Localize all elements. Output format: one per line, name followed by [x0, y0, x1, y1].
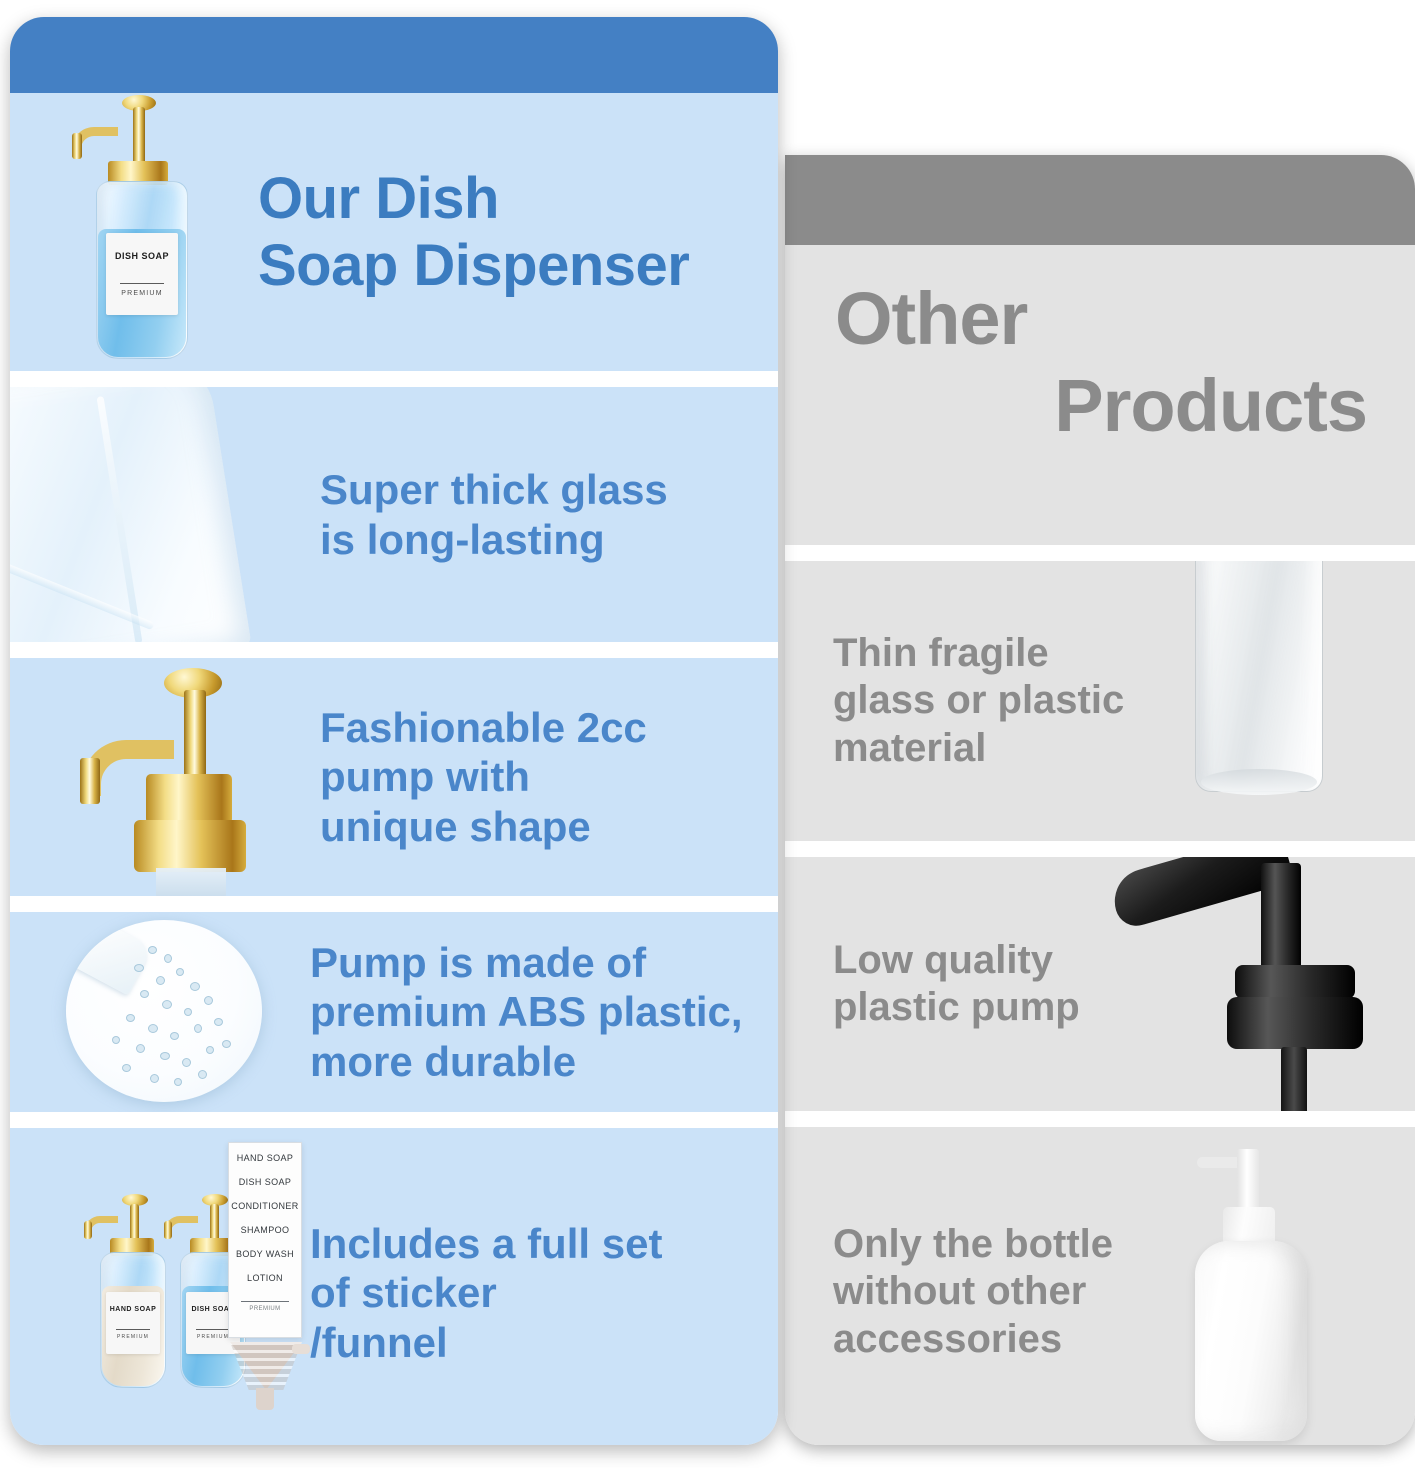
- row-gap: [785, 1111, 1415, 1127]
- row-gap: [10, 896, 778, 912]
- drawback-text-bottle-only: Only the bottle without other accessorie…: [785, 1221, 1150, 1363]
- our-product-title: Our Dish Soap Dispenser: [10, 165, 689, 300]
- feature-line2: pump with: [320, 752, 647, 801]
- feature-line1: Includes a full set: [310, 1219, 662, 1268]
- feature-line3: more durable: [310, 1037, 743, 1086]
- drawback-line2: plastic pump: [833, 984, 1150, 1031]
- drawback-line3: accessories: [833, 1316, 1150, 1363]
- feature-text-thick-glass: Super thick glass is long-lasting: [10, 465, 668, 563]
- row-gap: [785, 841, 1415, 857]
- drawback-line1: Thin fragile: [833, 630, 1150, 677]
- feature-line2: of sticker: [310, 1268, 662, 1317]
- other-products-title-line2: Products: [827, 362, 1367, 449]
- feature-row-abs-plastic: Pump is made of premium ABS plastic, mor…: [10, 912, 778, 1112]
- row-gap: [785, 545, 1415, 561]
- other-products-title-line1: Other: [827, 275, 1367, 362]
- feature-text-fashionable-pump: Fashionable 2cc pump with unique shape: [10, 703, 647, 850]
- drawback-line2: glass or plastic: [833, 677, 1150, 724]
- feature-row-sticker-funnel: HAND SOAP PREMIUM DISH SOAP: [10, 1128, 778, 1445]
- feature-row-thick-glass: Super thick glass is long-lasting: [10, 387, 778, 642]
- our-product-title-row: DISH SOAP PREMIUM Our Dish Soap Dispense…: [10, 93, 778, 371]
- drawback-line2: without other: [833, 1268, 1150, 1315]
- feature-line2: is long-lasting: [320, 515, 668, 564]
- other-products-header-bar: [785, 155, 1415, 245]
- sticker-label: DISH SOAP: [239, 1177, 292, 1187]
- our-product-title-line2: Soap Dispenser: [258, 232, 689, 299]
- plain-white-bottle-photo: [1163, 1141, 1373, 1441]
- drawback-text-thin-fragile-glass: Thin fragile glass or plastic material: [785, 630, 1150, 772]
- sticker-label: CONDITIONER: [231, 1201, 298, 1211]
- feature-line1: Fashionable 2cc: [320, 703, 647, 752]
- feature-row-fashionable-pump: Fashionable 2cc pump with unique shape: [10, 658, 778, 896]
- drawback-text-low-quality-pump: Low quality plastic pump: [785, 937, 1150, 1031]
- drawback-line1: Low quality: [833, 937, 1150, 984]
- row-gap: [10, 371, 778, 387]
- drawback-line1: Only the bottle: [833, 1221, 1150, 1268]
- other-products-title: Other Products: [827, 275, 1373, 450]
- feature-line2: premium ABS plastic,: [310, 987, 743, 1036]
- feature-text-abs-plastic: Pump is made of premium ABS plastic, mor…: [10, 938, 743, 1085]
- row-gap: [10, 642, 778, 658]
- drawback-line3: material: [833, 725, 1150, 772]
- feature-text-sticker-funnel: Includes a full set of sticker /funnel: [10, 1219, 662, 1366]
- feature-line3: unique shape: [320, 802, 647, 851]
- our-product-title-line1: Our Dish: [258, 165, 689, 232]
- drawback-row-bottle-only: Only the bottle without other accessorie…: [785, 1127, 1415, 1445]
- feature-line3: /funnel: [310, 1318, 662, 1367]
- row-gap: [10, 1112, 778, 1128]
- thin-glass-jar-photo: [1149, 561, 1379, 841]
- other-products-title-block: Other Products: [785, 245, 1415, 545]
- other-products-card: Other Products Thin fragile glass or pla…: [785, 155, 1415, 1445]
- drawback-row-low-quality-pump: Low quality plastic pump: [785, 857, 1415, 1111]
- our-product-card: DISH SOAP PREMIUM Our Dish Soap Dispense…: [10, 17, 778, 1445]
- feature-line1: Super thick glass: [320, 465, 668, 514]
- feature-line1: Pump is made of: [310, 938, 743, 987]
- drawback-row-thin-fragile-glass: Thin fragile glass or plastic material: [785, 561, 1415, 841]
- sticker-label: HAND SOAP: [237, 1153, 294, 1163]
- our-product-header-bar: [10, 17, 778, 93]
